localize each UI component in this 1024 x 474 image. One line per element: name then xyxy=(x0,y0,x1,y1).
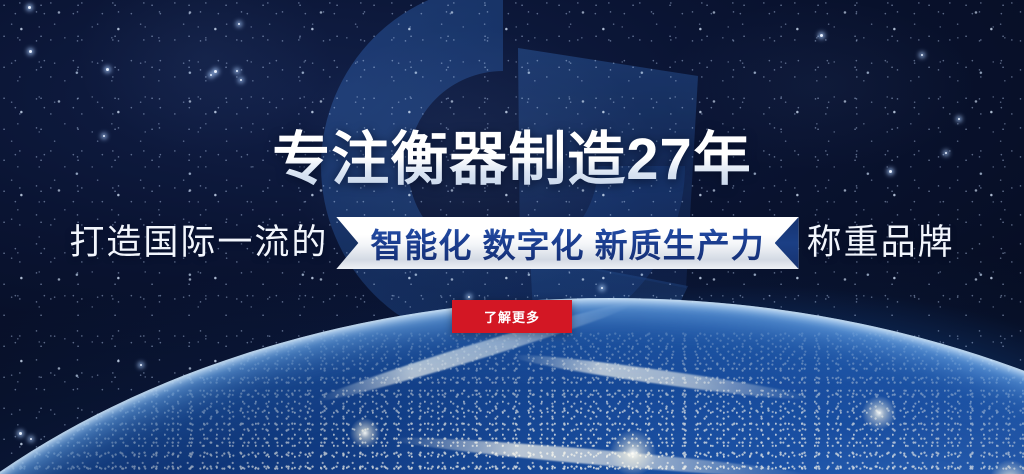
hero-banner: 专注衡器制造27年 打造国际一流的 智能化 数字化 新质生产力 称重品牌 了解更… xyxy=(0,0,1024,474)
keyword-ribbon-text: 智能化 数字化 新质生产力 xyxy=(370,219,764,267)
subline-left-text: 打造国际一流的 xyxy=(69,214,328,272)
subline-row: 打造国际一流的 智能化 数字化 新质生产力 称重品牌 xyxy=(0,214,1024,272)
subline-right-text: 称重品牌 xyxy=(807,214,955,272)
page-title: 专注衡器制造27年 xyxy=(0,128,1024,192)
learn-more-button[interactable]: 了解更多 xyxy=(452,300,572,333)
keyword-ribbon: 智能化 数字化 新质生产力 xyxy=(336,217,798,269)
cta-row: 了解更多 xyxy=(0,300,1024,333)
